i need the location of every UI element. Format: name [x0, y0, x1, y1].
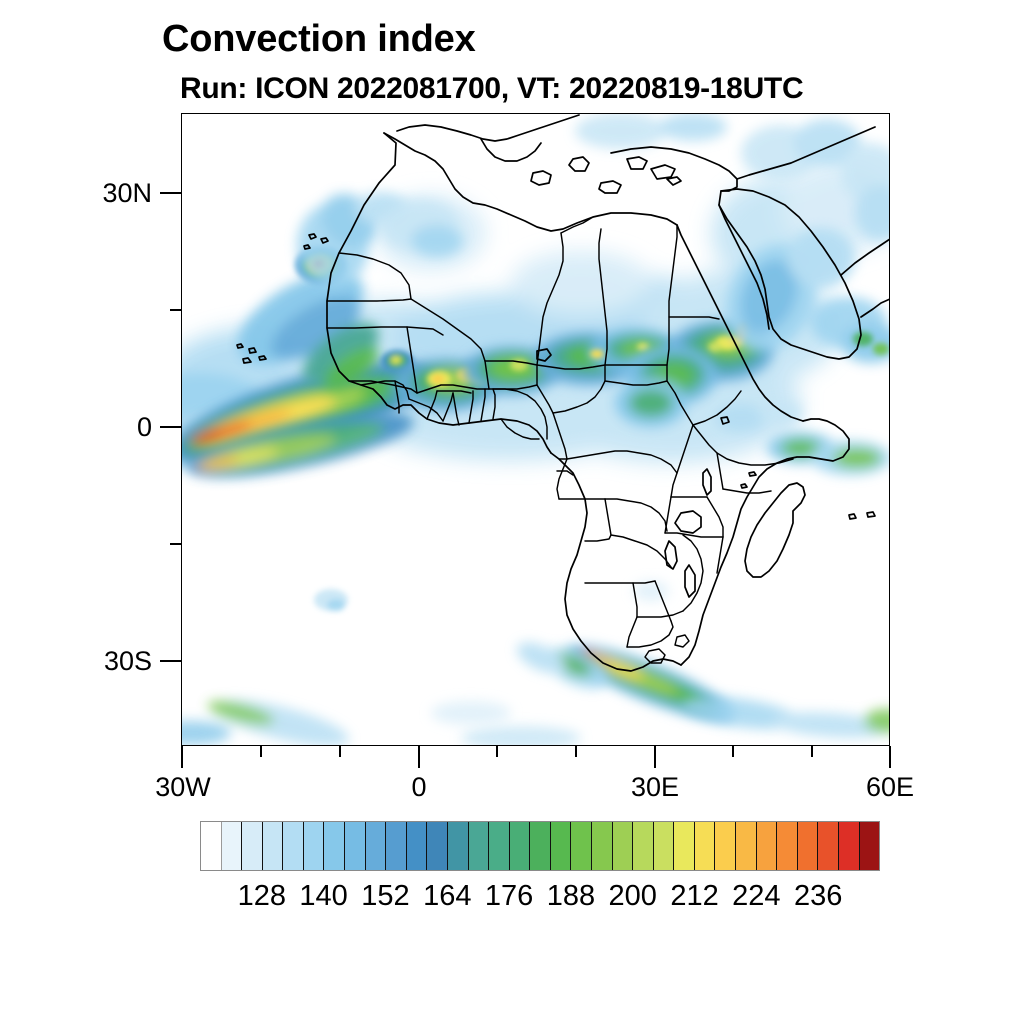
colorbar-label-224: 224 [732, 880, 780, 913]
colorbar-label-152: 152 [361, 880, 409, 913]
colorbar-cell-29 [798, 822, 819, 870]
xtick-50e [811, 746, 813, 757]
colorbar-cell-3 [263, 822, 284, 870]
colorbar-label-188: 188 [547, 880, 595, 913]
colorbar-cell-19 [592, 822, 613, 870]
convection-index-figure: Convection index Run: ICON 2022081700, V… [0, 0, 1024, 1024]
ytick-30n [160, 192, 181, 194]
colorbar-cell-12 [448, 822, 469, 870]
colorbar-label-164: 164 [423, 880, 471, 913]
colorbar-cell-24 [695, 822, 716, 870]
xtick-20e [575, 746, 577, 757]
xtick-40e [732, 746, 734, 757]
colorbar-label-236: 236 [794, 880, 842, 913]
xtick-label-0: 0 [357, 772, 481, 803]
xtick-label-30e: 30E [593, 772, 717, 803]
colorbar-cell-22 [654, 822, 675, 870]
map-plot-area [181, 113, 890, 746]
colorbar-cell-20 [613, 822, 634, 870]
colorbar-cell-8 [366, 822, 387, 870]
colorbar-cell-21 [633, 822, 654, 870]
colorbar-cell-7 [345, 822, 366, 870]
xtick-label-30w: 30W [121, 772, 245, 803]
xtick-60e [889, 746, 891, 768]
colorbar-cell-31 [839, 822, 860, 870]
colorbar-label-128: 128 [238, 880, 286, 913]
ytick-label-30s: 30S [40, 646, 152, 677]
page-subtitle: Run: ICON 2022081700, VT: 20220819-18UTC [180, 72, 803, 106]
colorbar-cell-2 [242, 822, 263, 870]
xtick-label-60e: 60E [828, 772, 952, 803]
xtick-0 [418, 746, 420, 768]
ytick-30s [160, 660, 181, 662]
colorbar-cell-28 [777, 822, 798, 870]
xtick-20w [260, 746, 262, 757]
map-canvas [181, 113, 890, 746]
colorbar-cell-16 [530, 822, 551, 870]
colorbar-cell-9 [386, 822, 407, 870]
ytick-0 [160, 426, 181, 428]
colorbar-cell-18 [571, 822, 592, 870]
colorbar-cell-27 [757, 822, 778, 870]
colorbar-tick-labels: 128140152164176188200212224236 [200, 880, 880, 920]
colorbar-cell-11 [427, 822, 448, 870]
ytick-15n [170, 309, 181, 311]
colorbar-cell-5 [304, 822, 325, 870]
colorbar-cell-25 [715, 822, 736, 870]
colorbar-cell-0 [201, 822, 222, 870]
colorbar-cell-32 [860, 822, 880, 870]
colorbar-label-176: 176 [485, 880, 533, 913]
colorbar-cell-26 [736, 822, 757, 870]
colorbar[interactable] [200, 821, 880, 871]
ytick-label-30n: 30N [40, 178, 152, 209]
colorbar-label-212: 212 [670, 880, 718, 913]
colorbar-cell-1 [222, 822, 243, 870]
colorbar-cell-6 [324, 822, 345, 870]
colorbar-cell-14 [489, 822, 510, 870]
ytick-15s [170, 543, 181, 545]
colorbar-cell-13 [469, 822, 490, 870]
colorbar-cell-23 [674, 822, 695, 870]
colorbar-cell-17 [551, 822, 572, 870]
colorbar-label-140: 140 [299, 880, 347, 913]
colorbar-cell-10 [407, 822, 428, 870]
xtick-10e [496, 746, 498, 757]
xtick-30w [181, 746, 183, 768]
colorbar-label-200: 200 [609, 880, 657, 913]
page-title: Convection index [162, 18, 476, 61]
colorbar-cell-15 [510, 822, 531, 870]
xtick-30e [654, 746, 656, 768]
colorbar-cell-4 [283, 822, 304, 870]
xtick-10w [339, 746, 341, 757]
ytick-label-0: 0 [40, 412, 152, 443]
colorbar-cell-30 [818, 822, 839, 870]
